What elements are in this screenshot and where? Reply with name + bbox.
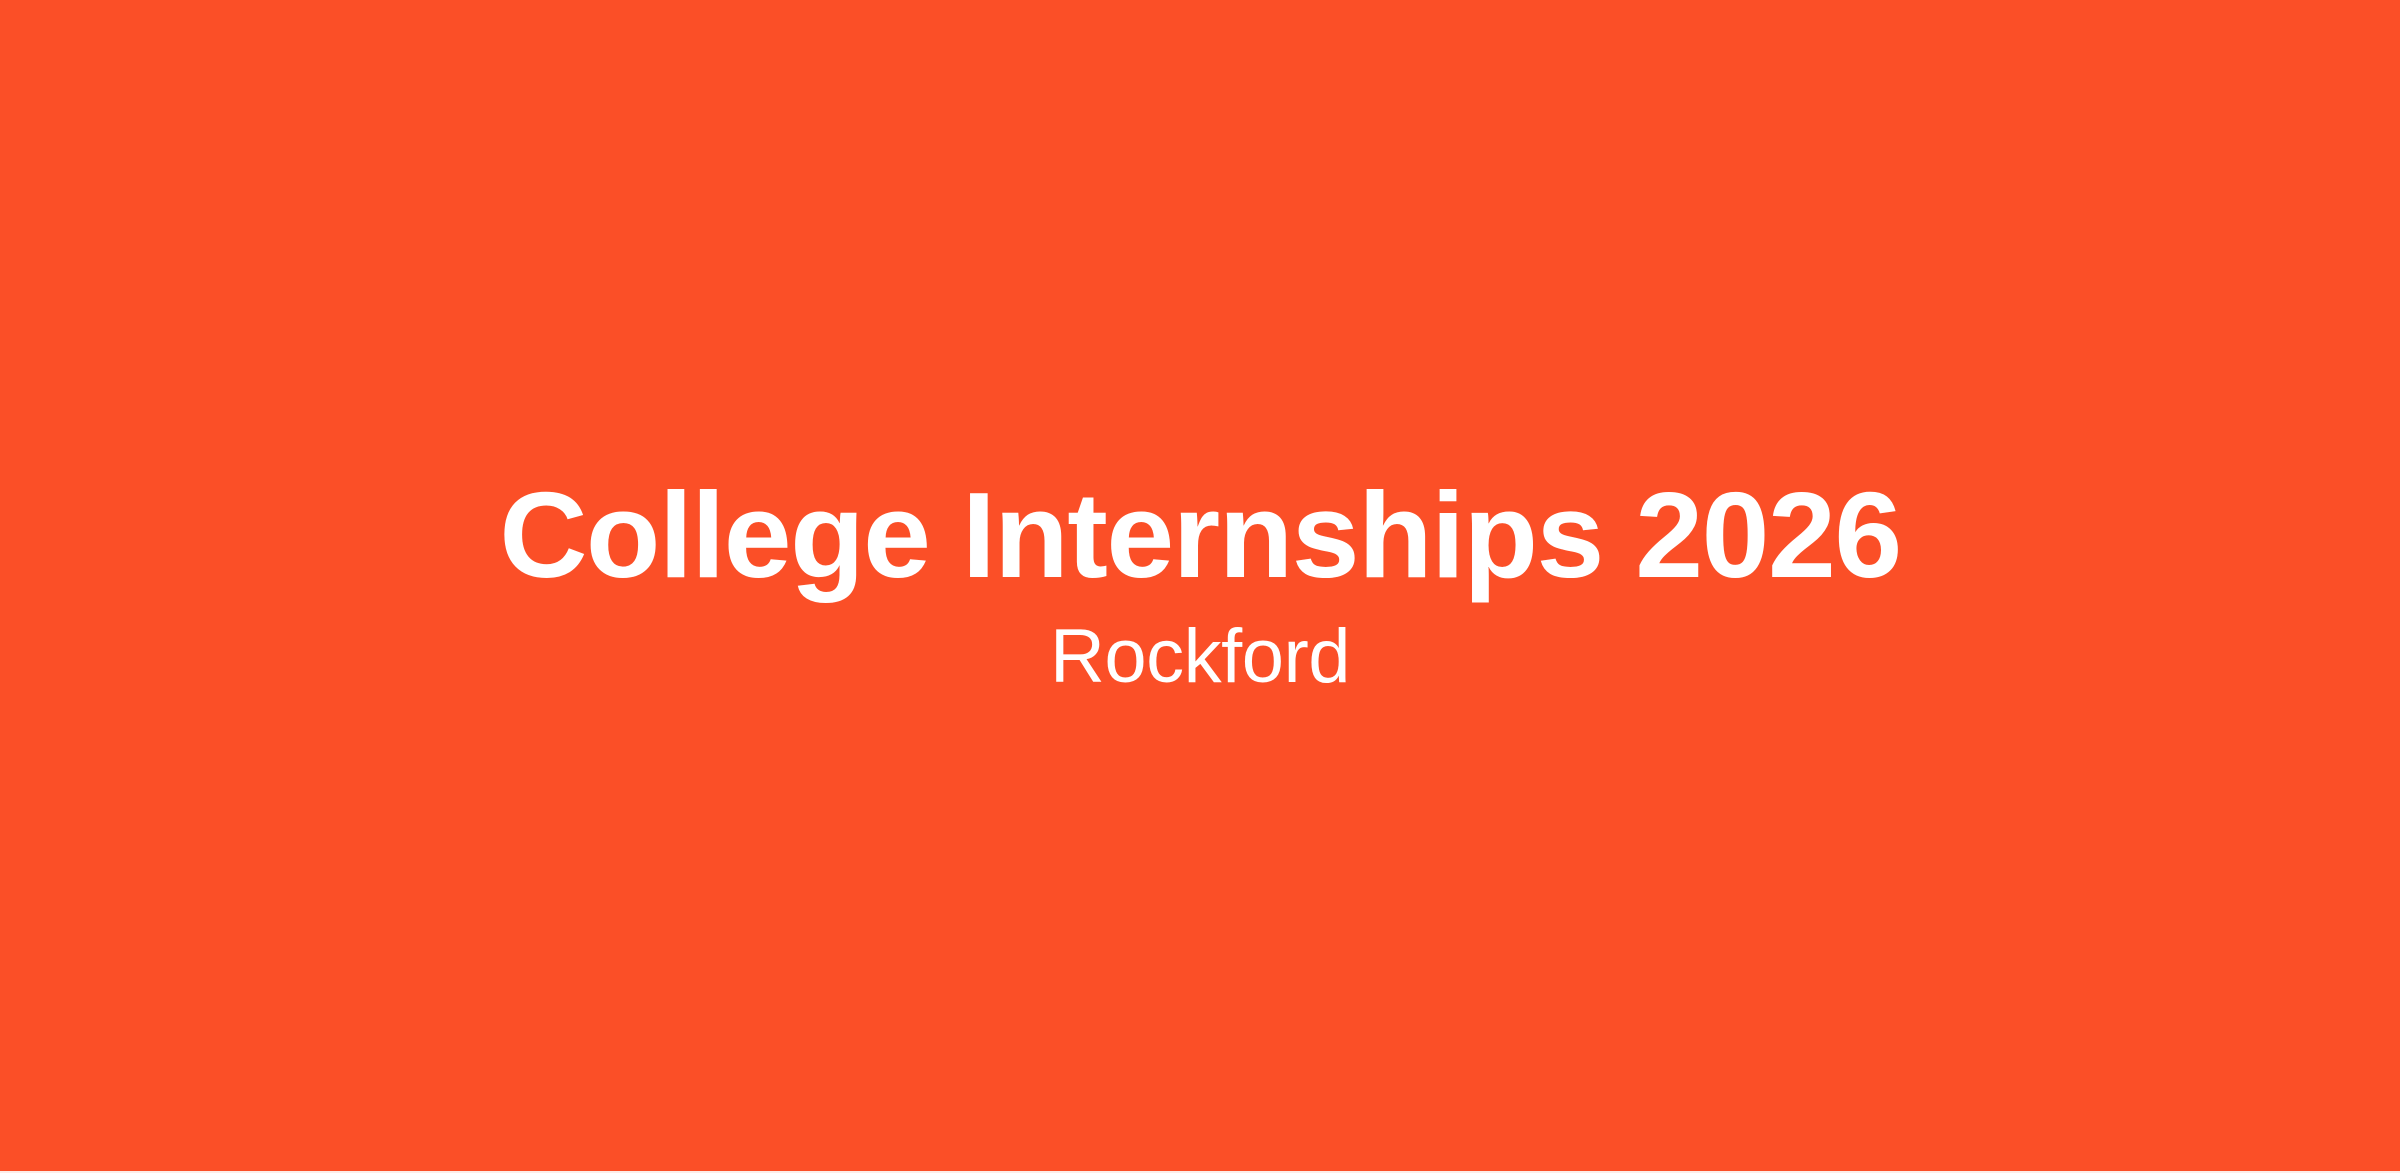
page-title: College Internships 2026 <box>499 467 1900 604</box>
hero-banner: College Internships 2026 Rockford <box>0 0 2400 1173</box>
page-subtitle: Rockford <box>1050 612 1350 702</box>
hero-text-block: College Internships 2026 Rockford <box>0 467 2400 701</box>
